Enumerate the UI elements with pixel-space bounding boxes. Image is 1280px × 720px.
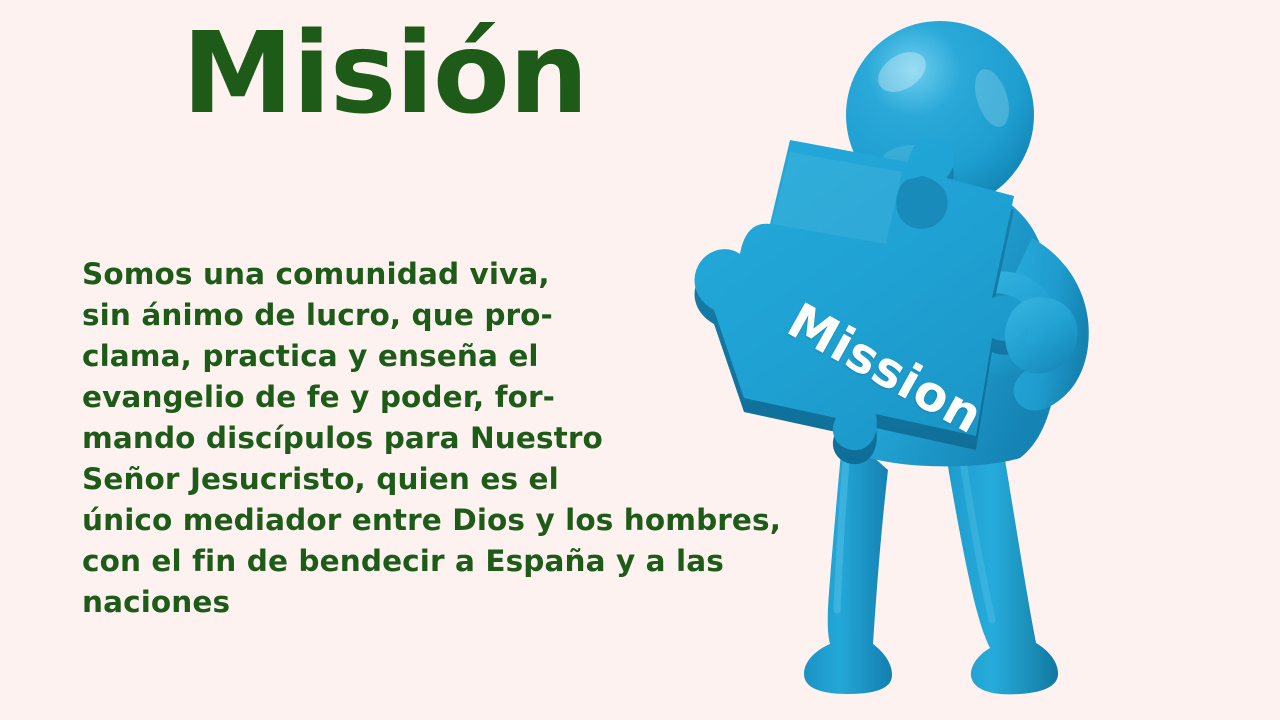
mission-line: único mediador entre Dios y los hombres,: [82, 500, 872, 541]
mission-line: Somos una comunidad viva,: [82, 254, 872, 295]
mission-line: con el fin de bendecir a España y a las: [82, 541, 872, 582]
slide-canvas: Misión: [0, 0, 1280, 720]
mission-line: evangelio de fe y poder, for-: [82, 377, 872, 418]
mission-line: mando discípulos para Nuestro: [82, 418, 872, 459]
mission-line: naciones: [82, 582, 872, 623]
mission-statement-text: Somos una comunidad viva, sin ánimo de l…: [82, 254, 872, 623]
mission-line: sin ánimo de lucro, que pro-: [82, 295, 872, 336]
page-title: Misión: [182, 14, 588, 135]
mission-line: Señor Jesucristo, quien es el: [82, 459, 872, 500]
mission-line: clama, practica y enseña el: [82, 336, 872, 377]
